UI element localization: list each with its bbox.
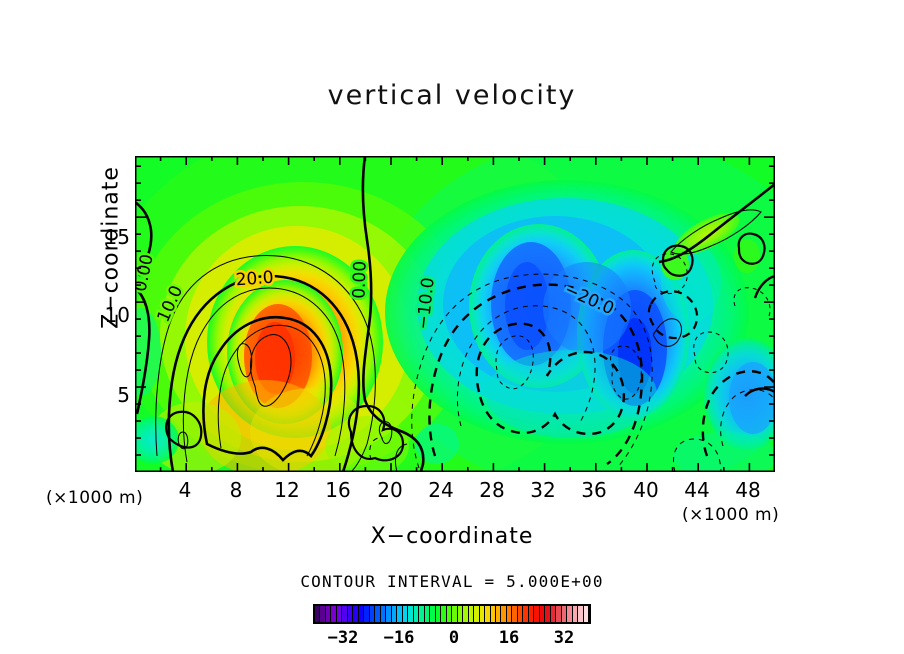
colorbar-tick-16: 16 — [484, 628, 534, 648]
x-tick-28: 28 — [469, 478, 515, 502]
cool-pocket-right-core — [729, 362, 775, 434]
x-tick-44: 44 — [674, 478, 720, 502]
contour-interval-label: CONTOUR INTERVAL = 5.000E+00 — [0, 572, 904, 591]
x-tick-24: 24 — [418, 478, 464, 502]
y-tick-15: 15 — [100, 225, 130, 249]
colorbar-swatches — [315, 606, 589, 622]
colorbar-tick-32: 32 — [539, 628, 589, 648]
cool-patch-mid-bottom — [415, 424, 459, 464]
colorbar-tick-zero: 0 — [429, 628, 479, 648]
colorbar-tick-minus32: −32 — [318, 628, 368, 648]
x-axis-title: X−coordinate — [0, 524, 904, 549]
x-tick-48: 48 — [725, 478, 771, 502]
contour-svg: 0.00 10.0 20.0 0.00 −10.0 −20.0 — [135, 156, 775, 472]
x-tick-32: 32 — [520, 478, 566, 502]
colorbar-tick-minus16: −16 — [374, 628, 424, 648]
contour-field: 0.00 10.0 20.0 0.00 −10.0 −20.0 — [135, 156, 775, 472]
x-tick-40: 40 — [623, 478, 669, 502]
page-title: vertical velocity — [0, 80, 904, 111]
colorbar-swatch-49 — [584, 606, 589, 622]
x-tick-36: 36 — [571, 478, 617, 502]
colorbar[interactable] — [313, 604, 591, 624]
x-tick-20: 20 — [367, 478, 413, 502]
contour-plot-page: vertical velocity Z−coordinate X−coordin… — [0, 0, 904, 654]
y-tick-10: 10 — [100, 303, 130, 327]
x-tick-16: 16 — [315, 478, 361, 502]
y-tick-5: 5 — [100, 383, 130, 407]
x-tick-8: 8 — [213, 478, 259, 502]
contour-label-twenty-left: 20.0 — [235, 268, 274, 291]
y-axis-units: (×1000 m) — [46, 488, 143, 508]
downdraft-lower-cyan — [485, 350, 657, 438]
x-tick-12: 12 — [264, 478, 310, 502]
x-axis-units: (×1000 m) — [682, 505, 779, 525]
x-tick-4: 4 — [162, 478, 208, 502]
contour-label-zero-center: 0.00 — [349, 261, 370, 300]
field-layer — [135, 156, 775, 472]
